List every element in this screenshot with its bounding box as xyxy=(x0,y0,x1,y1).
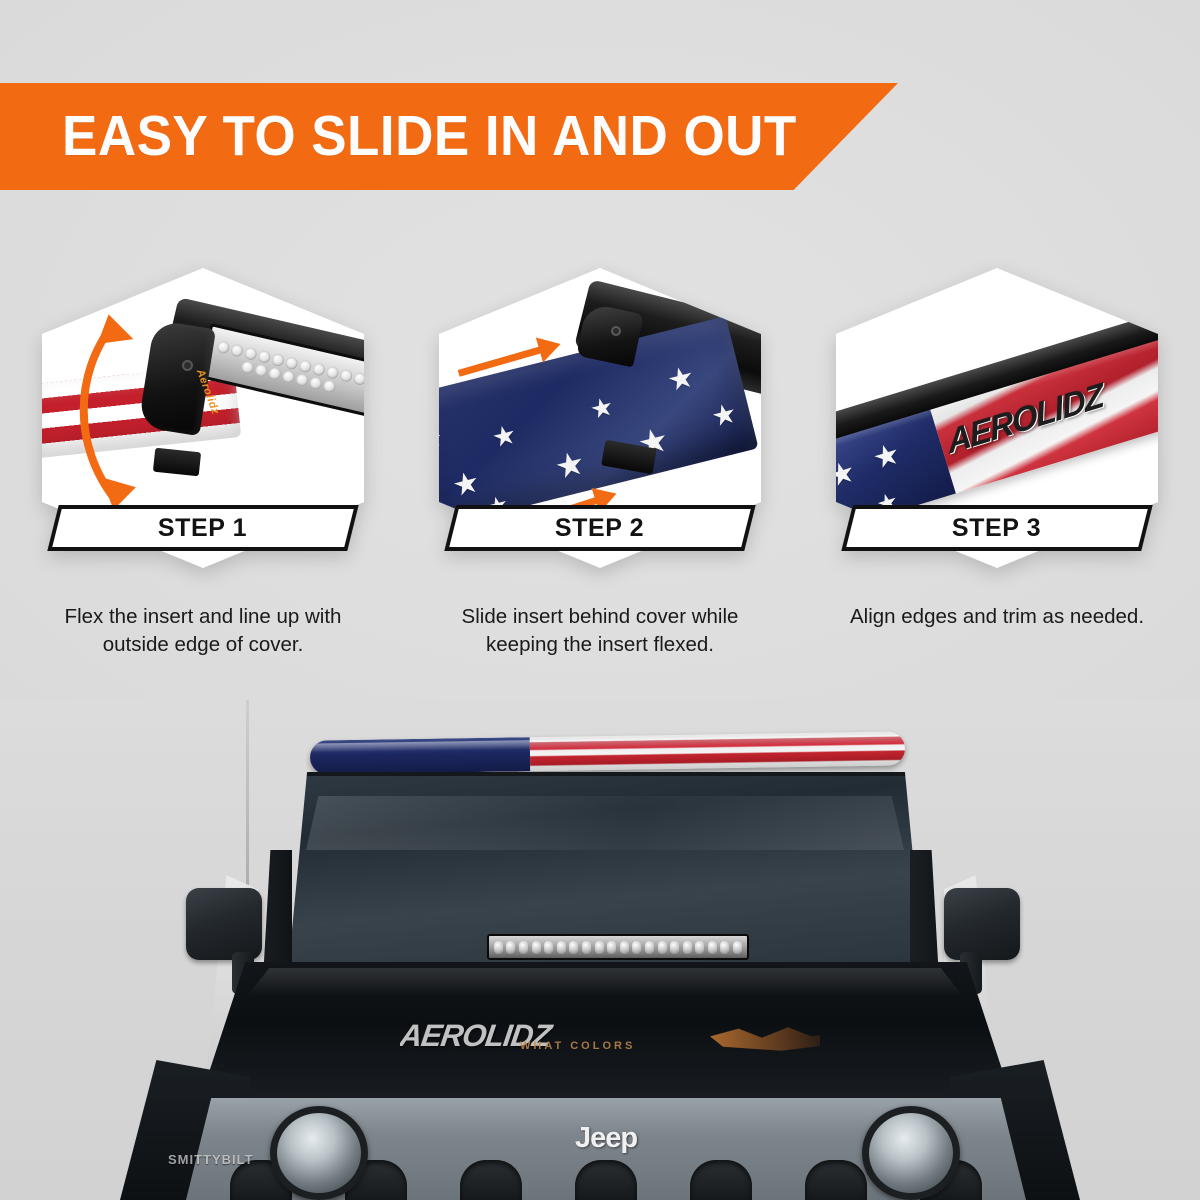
step-2-image-panel: ★ ★ ★ ★ ★ ★ ★ ★ ★ xyxy=(439,268,761,568)
step-2-caption: Slide insert behind cover while keeping … xyxy=(439,603,761,659)
step-2: ★ ★ ★ ★ ★ ★ ★ ★ ★ xyxy=(439,268,761,568)
step-3-badge-label: STEP 3 xyxy=(952,516,1041,541)
headlight-left xyxy=(270,1106,368,1200)
grille-slot xyxy=(575,1160,637,1200)
step-2-badge-label: STEP 2 xyxy=(555,516,644,541)
headlight-right xyxy=(862,1106,960,1200)
step-1-image-panel: Aerolidz STEP 1 xyxy=(42,268,364,568)
step-3: ★ ★ ★ ★ AEROLIDZ xyxy=(836,268,1158,568)
bracket-screw-icon xyxy=(611,326,621,336)
grille-slot xyxy=(690,1160,752,1200)
windshield-glare xyxy=(300,796,910,850)
bumper-badge-label: SMITTYBILT xyxy=(168,1152,254,1167)
step-3-badge: STEP 3 xyxy=(841,505,1152,551)
step-3-caption: Align edges and trim as needed. xyxy=(836,603,1158,631)
infographic-page: EASY TO SLIDE IN AND OUT xyxy=(0,0,1200,1200)
cowl-led-light-bar xyxy=(487,934,749,960)
vehicle-photo: AEROLIDZ WHAT COLORS Jeep SMITTYBILT xyxy=(0,700,1200,1200)
step-1: Aerolidz STEP 1 Flex the i xyxy=(42,268,364,568)
step-1-caption: Flex the insert and line up with outside… xyxy=(42,603,364,659)
steps-row: Aerolidz STEP 1 Flex the i xyxy=(0,268,1200,568)
step-3-image-panel: ★ ★ ★ ★ AEROLIDZ xyxy=(836,268,1158,568)
step-2-badge: STEP 2 xyxy=(444,505,755,551)
hood-decal: AEROLIDZ WHAT COLORS xyxy=(400,1018,820,1054)
grille-slot xyxy=(805,1160,867,1200)
hood-reflection xyxy=(240,968,970,996)
page-title: EASY TO SLIDE IN AND OUT xyxy=(62,108,797,165)
flex-arrow-icon xyxy=(60,286,200,536)
side-mirror-right xyxy=(944,888,1020,960)
header-banner: EASY TO SLIDE IN AND OUT xyxy=(0,83,898,190)
grille-slot xyxy=(460,1160,522,1200)
step-1-badge: STEP 1 xyxy=(47,505,358,551)
side-mirror-left xyxy=(186,888,262,960)
step-1-badge-label: STEP 1 xyxy=(158,516,247,541)
hood-decal-sub-label: WHAT COLORS xyxy=(520,1040,635,1052)
flame-graphic xyxy=(710,1026,820,1052)
